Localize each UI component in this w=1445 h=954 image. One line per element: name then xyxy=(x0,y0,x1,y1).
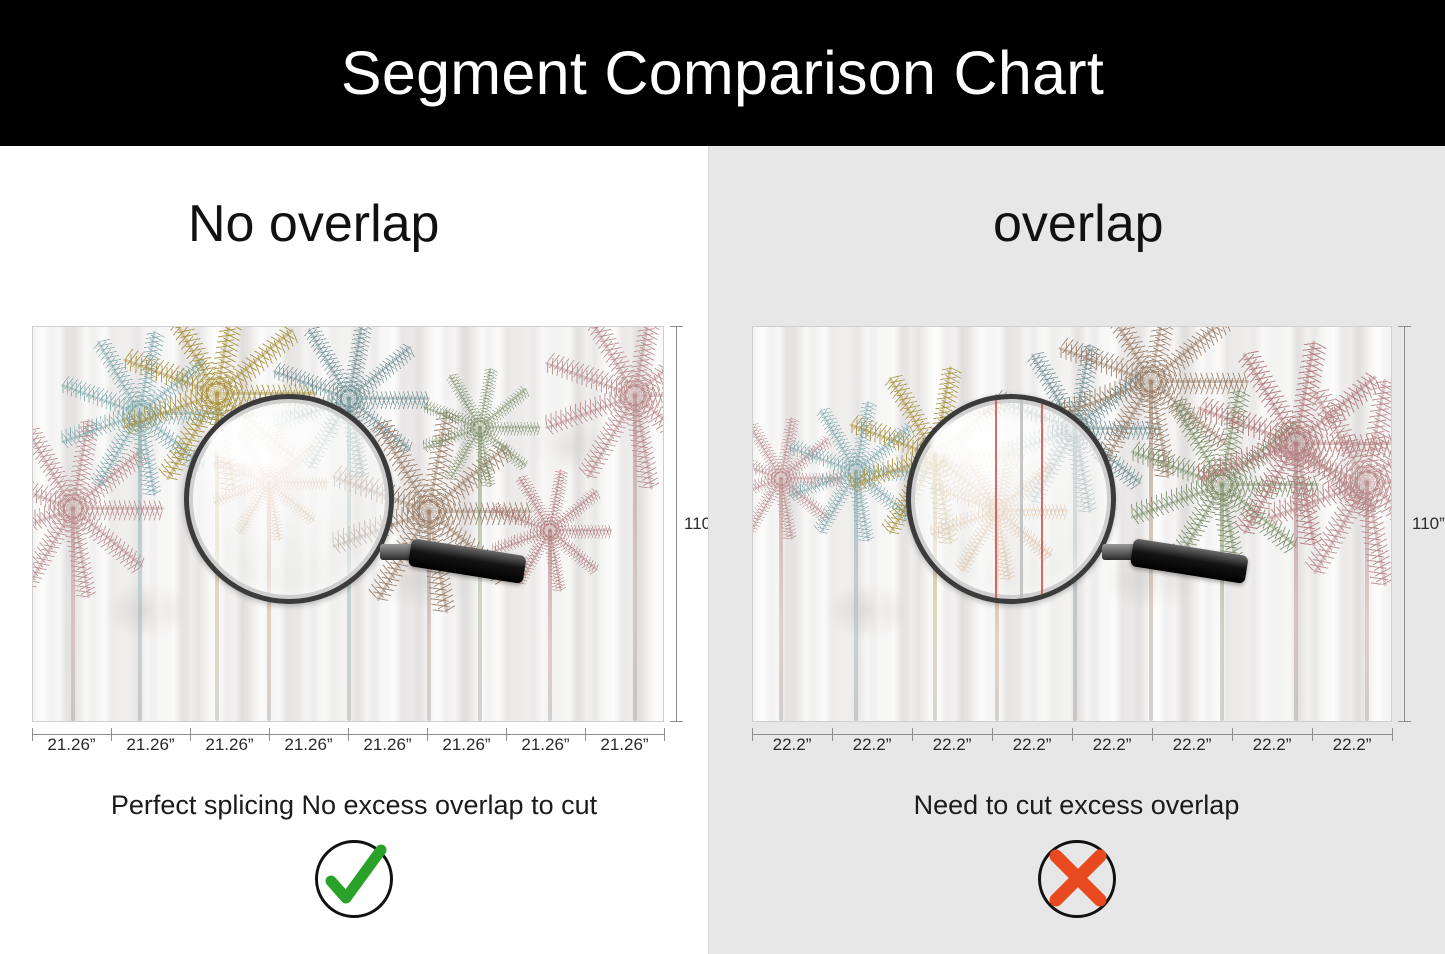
verdict-no-overlap xyxy=(0,836,708,922)
palm-tree xyxy=(855,470,857,721)
caption-overlap: Need to cut excess overlap xyxy=(708,792,1445,819)
overlap-guide-line xyxy=(1041,399,1043,599)
segment-width-label: 22.2” xyxy=(1072,736,1152,753)
palm-tree xyxy=(634,394,636,721)
height-dimension-overlap: 110” xyxy=(1396,326,1442,722)
overlap-guide-line xyxy=(995,399,997,599)
caption-no-overlap: Perfect splicing No excess overlap to cu… xyxy=(0,792,708,819)
palm-tree xyxy=(549,529,551,721)
figure-overlap: 110” 22.2”22.2”22.2”22.2”22.2”22.2”22.2”… xyxy=(752,326,1392,722)
segment-width-label: 21.26” xyxy=(32,736,111,753)
panel-heading-overlap: overlap xyxy=(708,198,1445,250)
segment-tick xyxy=(1392,728,1393,741)
mural-image-no-overlap xyxy=(32,326,664,722)
segment-width-label: 21.26” xyxy=(111,736,190,753)
cross-icon xyxy=(1034,836,1120,922)
verdict-overlap xyxy=(708,836,1445,922)
segment-width-label: 22.2” xyxy=(912,736,992,753)
page-title: Segment Comparison Chart xyxy=(341,43,1104,104)
magnifier-lens xyxy=(906,394,1116,604)
lens-highlight xyxy=(209,415,333,467)
segment-width-label: 21.26” xyxy=(506,736,585,753)
title-bar: Segment Comparison Chart xyxy=(0,0,1445,146)
magnifier-lens xyxy=(184,394,394,604)
segment-width-label: 22.2” xyxy=(1312,736,1392,753)
lens-highlight xyxy=(931,415,1055,467)
comparison-chart-page: Segment Comparison Chart No overlap 110” xyxy=(0,0,1445,954)
mural-image-overlap xyxy=(752,326,1392,722)
panels-container: No overlap 110” 21.26”21.26”21.26”21.26”… xyxy=(0,146,1445,954)
segment-width-label: 22.2” xyxy=(832,736,912,753)
palm-tree xyxy=(1295,442,1297,721)
segment-width-label: 21.26” xyxy=(348,736,427,753)
segment-tick xyxy=(664,728,665,741)
overlap-guide-line xyxy=(1020,399,1023,599)
segment-width-label: 22.2” xyxy=(1152,736,1232,753)
height-axis-line xyxy=(1404,326,1405,722)
segment-width-label: 21.26” xyxy=(269,736,348,753)
figure-no-overlap: 110” 21.26”21.26”21.26”21.26”21.26”21.26… xyxy=(32,326,664,722)
segment-width-label: 22.2” xyxy=(992,736,1072,753)
palm-tree xyxy=(780,477,782,721)
palm-tree xyxy=(1221,483,1223,721)
segment-width-label: 21.26” xyxy=(427,736,506,753)
segments-dimension-overlap: 22.2”22.2”22.2”22.2”22.2”22.2”22.2”22.2” xyxy=(752,728,1392,762)
magnifier-icon xyxy=(184,394,394,604)
palm-tree xyxy=(72,507,74,721)
segment-width-label: 22.2” xyxy=(752,736,832,753)
segment-width-label: 21.26” xyxy=(190,736,269,753)
magnifier-icon xyxy=(906,394,1116,604)
height-label-overlap: 110” xyxy=(1412,514,1445,534)
segments-dimension-no-overlap: 21.26”21.26”21.26”21.26”21.26”21.26”21.2… xyxy=(32,728,664,762)
height-axis-line xyxy=(676,326,677,722)
segment-width-label: 21.26” xyxy=(585,736,664,753)
palm-tree xyxy=(139,412,141,721)
panel-divider xyxy=(708,146,709,954)
palm-tree xyxy=(1366,481,1368,721)
check-icon xyxy=(311,836,397,922)
panel-no-overlap: No overlap 110” 21.26”21.26”21.26”21.26”… xyxy=(0,146,708,954)
panel-heading-no-overlap: No overlap xyxy=(0,198,708,250)
panel-overlap: overlap 110” 22.2”22.2”22.2”22.2”22.2”22… xyxy=(708,146,1445,954)
segment-width-label: 22.2” xyxy=(1232,736,1312,753)
